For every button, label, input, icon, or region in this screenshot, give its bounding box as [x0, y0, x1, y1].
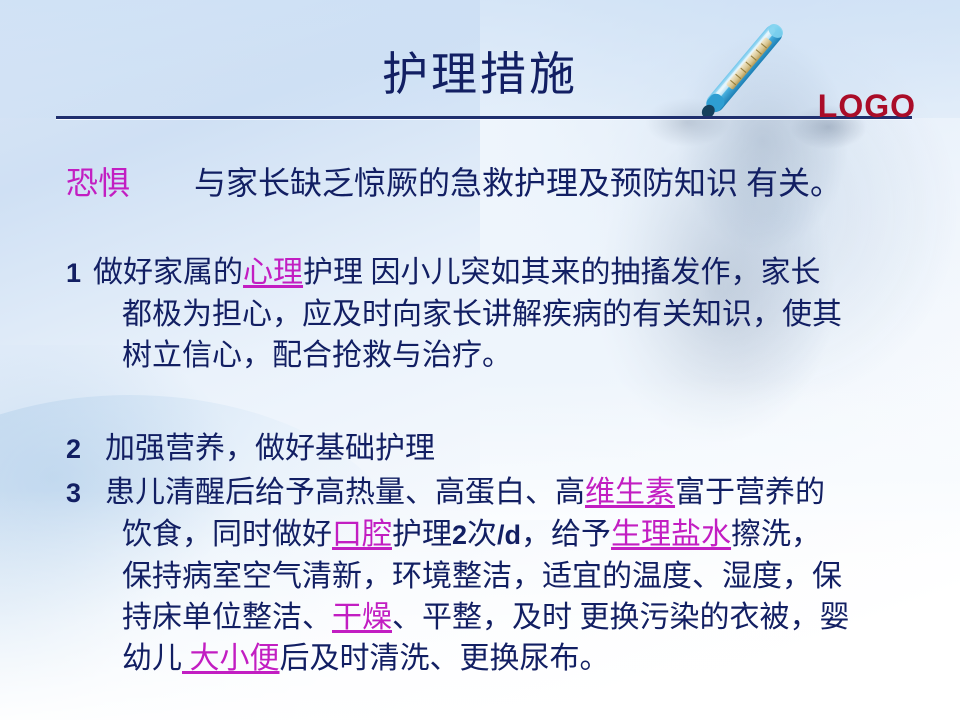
body-text: 后及时清洗、更换尿布。: [280, 642, 610, 675]
emphasis-text: 2: [452, 520, 467, 550]
list-item-line: 饮食，同时做好口腔护理2次/d，给予生理盐水擦洗，: [66, 514, 946, 556]
body-text: 都极为担心，应及时向家长讲解疾病的有关知识，使其: [122, 298, 842, 331]
list-item-line: 保持病室空气清新，环境整洁，适宜的温度、湿度，保: [66, 556, 946, 597]
diagnosis-statement: 与家长缺乏惊厥的急救护理及预防知识 有关。: [194, 165, 842, 201]
emphasis-text: /d: [497, 520, 521, 550]
keyword-link[interactable]: 干燥: [332, 601, 392, 634]
list-item-number: 3: [66, 478, 81, 508]
list-item-line: 树立信心，配合抢救与治疗。: [66, 335, 946, 376]
list-item: 2加强营养，做好基础护理: [66, 428, 946, 470]
body-text: 护理 因小儿突如其来的抽搐发作，家长: [303, 256, 821, 289]
list-item-text: 患儿清醒后给予高热量、高蛋白、高维生素富于营养的饮食，同时做好口腔护理2次/d，…: [66, 476, 946, 679]
list-item-line: 持床单位整洁、干燥、平整，及时 更换污染的衣被，婴: [66, 597, 946, 638]
slide-body: 恐惧与家长缺乏惊厥的急救护理及预防知识 有关。 1做好家属的心理护理 因小儿突如…: [0, 0, 960, 720]
body-text: 次: [467, 518, 497, 551]
body-text: 患儿清醒后给予高热量、高蛋白、高: [105, 476, 585, 509]
list-item-line: 做好家属的心理护理 因小儿突如其来的抽搐发作，家长: [93, 256, 821, 289]
body-text: 擦洗，: [731, 518, 821, 551]
body-text: 、平整，及时 更换污染的衣被，婴: [392, 601, 850, 634]
list-item-number: 1: [66, 258, 81, 288]
list-item-text: 做好家属的心理护理 因小儿突如其来的抽搐发作，家长都极为担心，应及时向家长讲解疾…: [66, 256, 946, 376]
list-item-text: 加强营养，做好基础护理: [105, 432, 435, 465]
list-item-number: 2: [66, 434, 81, 464]
body-text: 加强营养，做好基础护理: [105, 432, 435, 465]
keyword-link[interactable]: 口腔: [332, 518, 392, 551]
nursing-diagnosis-line: 恐惧与家长缺乏惊厥的急救护理及预防知识 有关。: [66, 158, 926, 204]
slide-canvas: 护理措施 LOGO 恐惧与家长缺乏惊厥的急救护理及预防知识 有关。 1做好家属的…: [0, 0, 960, 720]
body-text: 保持病室空气清新，环境整洁，适宜的温度、湿度，保: [122, 560, 842, 593]
body-text: 树立信心，配合抢救与治疗。: [122, 339, 512, 372]
body-text: 饮食，同时做好: [122, 518, 332, 551]
keyword-link[interactable]: 心理: [243, 256, 303, 289]
body-text: 做好家属的: [93, 256, 243, 289]
body-text: 护理: [392, 518, 452, 551]
diagnosis-keyword: 恐惧: [66, 165, 130, 201]
list-item-line: 加强营养，做好基础护理: [105, 432, 435, 465]
keyword-link[interactable]: 维生素: [585, 476, 675, 509]
list-item-line: 幼儿 大小便后及时清洗、更换尿布。: [66, 638, 946, 679]
keyword-link[interactable]: 大小便: [182, 642, 280, 675]
body-text: ，给予: [521, 518, 611, 551]
keyword-link[interactable]: 生理盐水: [611, 518, 731, 551]
body-text: 幼儿: [122, 642, 182, 675]
body-text: 富于营养的: [675, 476, 825, 509]
list-item-line: 患儿清醒后给予高热量、高蛋白、高维生素富于营养的: [105, 476, 825, 509]
body-text: 持床单位整洁、: [122, 601, 332, 634]
list-item: 1做好家属的心理护理 因小儿突如其来的抽搐发作，家长都极为担心，应及时向家长讲解…: [66, 252, 946, 376]
list-item: 3患儿清醒后给予高热量、高蛋白、高维生素富于营养的饮食，同时做好口腔护理2次/d…: [66, 472, 946, 679]
list-item-line: 都极为担心，应及时向家长讲解疾病的有关知识，使其: [66, 294, 946, 335]
